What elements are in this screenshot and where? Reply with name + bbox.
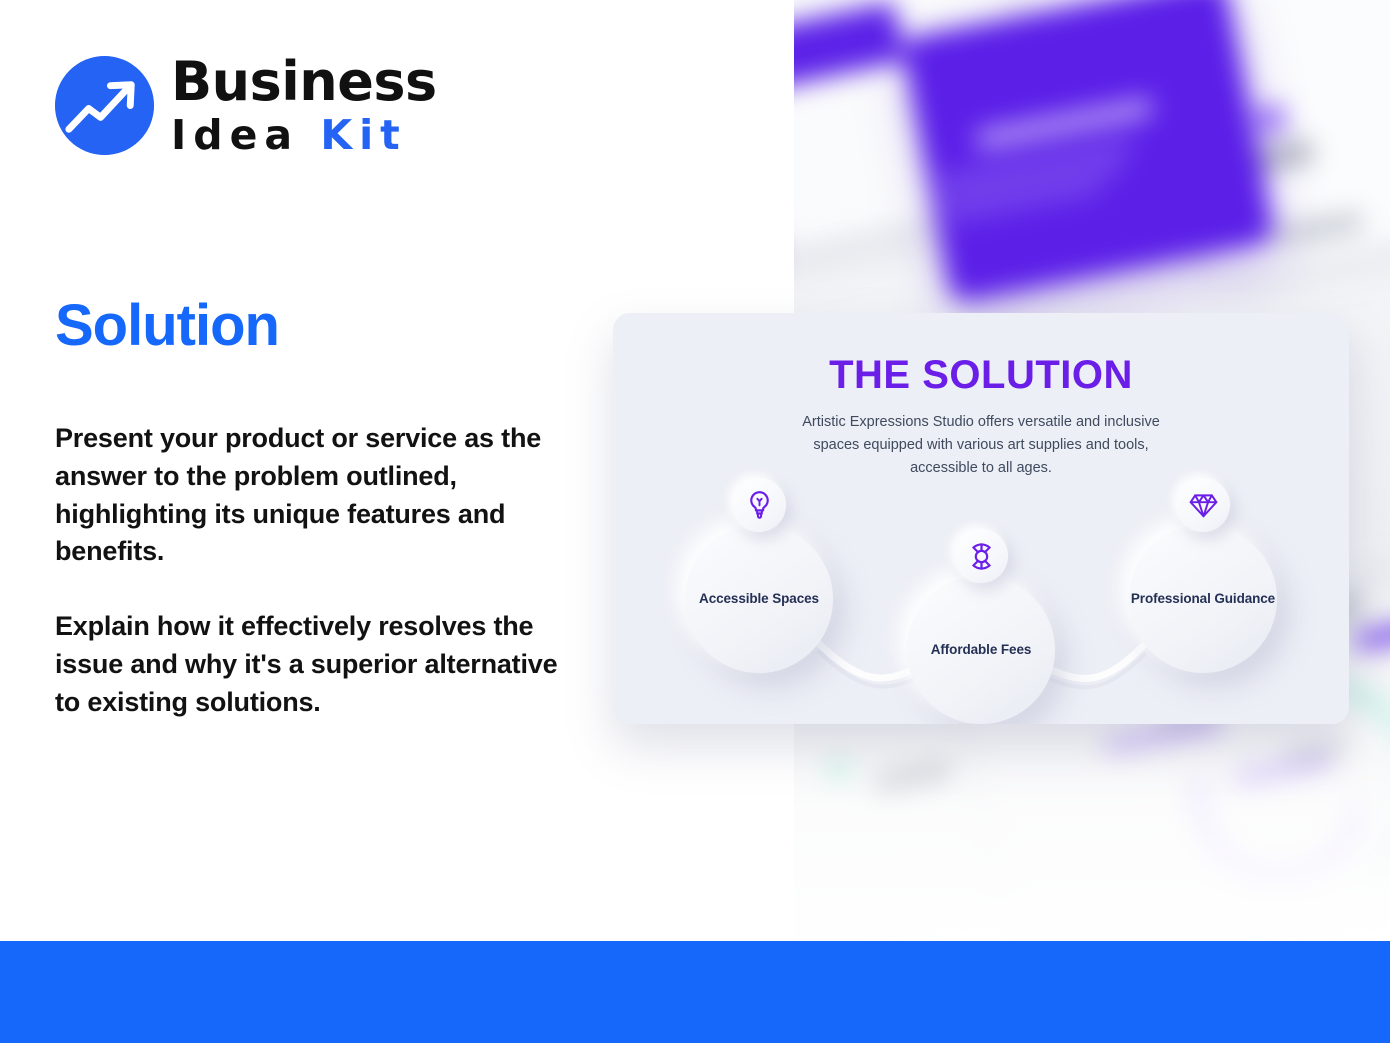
slide-canvas: Business Idea Kit Solution Present your … — [0, 0, 1390, 1043]
brand-name-idea: Idea — [171, 111, 320, 159]
lifebuoy-icon — [967, 542, 996, 571]
brand-wordmark: Business Idea Kit — [171, 55, 437, 156]
solution-item-label: Accessible Spaces — [699, 590, 819, 608]
solution-item-accessible-spaces[interactable]: Accessible Spaces — [685, 525, 833, 673]
body-paragraph-2: Explain how it effectively resolves the … — [55, 608, 585, 721]
solution-card: THE SOLUTION Artistic Expressions Studio… — [613, 313, 1349, 724]
solution-card-title: THE SOLUTION — [613, 353, 1349, 398]
footer-accent-bar — [0, 941, 1390, 1043]
solution-item-affordable-fees[interactable]: Affordable Fees — [907, 576, 1055, 724]
solution-item-label: Professional Guidance — [1131, 590, 1275, 608]
solution-item-professional-guidance[interactable]: Professional Guidance — [1129, 525, 1277, 673]
diamond-icon — [1189, 492, 1218, 519]
page-title: Solution — [55, 296, 279, 357]
brand-logo: Business Idea Kit — [55, 55, 437, 156]
brand-name-kit: Kit — [320, 111, 406, 159]
solution-item-icon-badge-2 — [954, 529, 1008, 583]
growth-arrow-circle-icon — [55, 56, 154, 155]
brand-name-line2: Idea Kit — [171, 115, 437, 156]
solution-card-description: Artistic Expressions Studio offers versa… — [783, 411, 1179, 480]
solution-item-icon-badge-3 — [1176, 478, 1230, 532]
solution-item-label: Affordable Fees — [931, 641, 1032, 659]
body-paragraph-1: Present your product or service as the a… — [55, 420, 585, 571]
brand-name-line1: Business — [171, 55, 437, 109]
lightbulb-icon — [746, 490, 773, 520]
solution-item-icon-badge-1 — [732, 478, 786, 532]
